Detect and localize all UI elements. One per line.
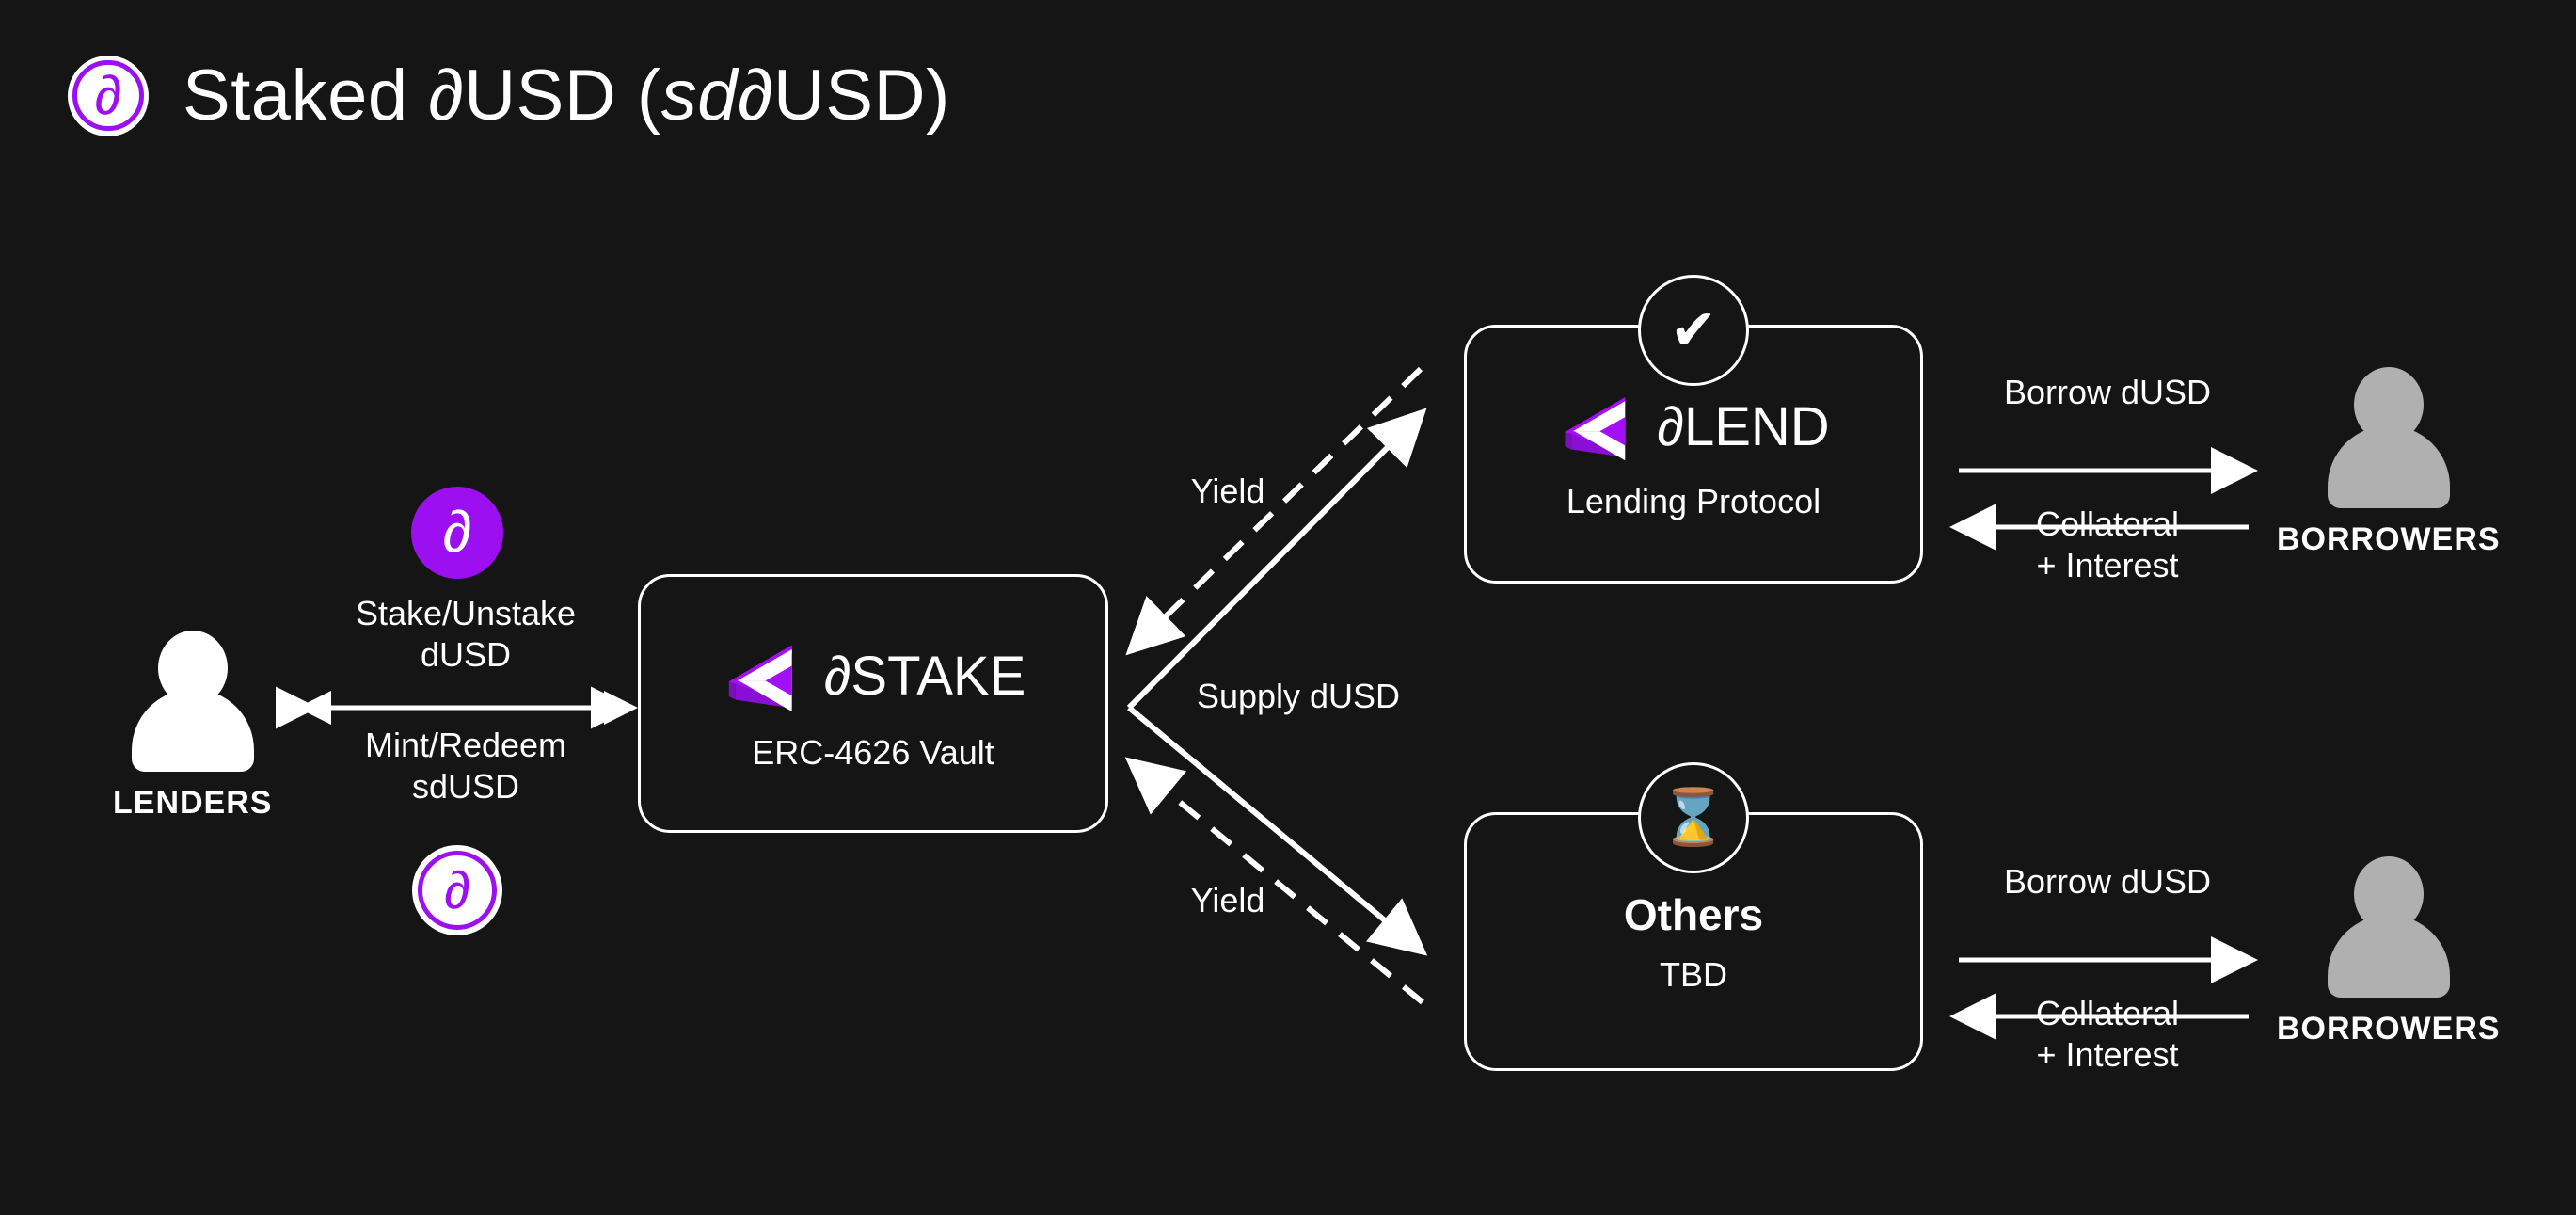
- hourglass-glyph: ⌛: [1660, 791, 1727, 845]
- dlend-brand-name: ∂LEND: [1657, 395, 1829, 458]
- others-box[interactable]: ⌛ Others TBD: [1464, 812, 1923, 1071]
- hourglass-badge-icon: ⌛: [1638, 762, 1749, 873]
- dlend-brand: ∂LEND: [1557, 388, 1829, 467]
- page-title: Staked ∂USD (sd∂USD): [183, 55, 950, 136]
- coin-glyph: ∂: [444, 864, 470, 917]
- person-icon: [2328, 367, 2450, 508]
- title-sd: sd: [661, 56, 738, 136]
- dlend-triangle-logo: [1557, 388, 1636, 467]
- diagram-canvas: ∂ Staked ∂USD (sd∂USD): [0, 0, 2576, 1215]
- title-mid: USD (: [464, 56, 660, 136]
- supply-label-upper: Supply dUSD: [1157, 676, 1439, 717]
- borrowers-label-lower: BORROWERS: [2277, 1011, 2501, 1047]
- collateral-interest-label-lower: Collateral + Interest: [1957, 993, 2258, 1076]
- stake-unstake-label: Stake/Unstake dUSD: [282, 593, 649, 676]
- dstake-brand-name: ∂STAKE: [824, 645, 1026, 708]
- borrowers-label-upper: BORROWERS: [2277, 521, 2501, 558]
- lenders-group: LENDERS: [113, 631, 272, 822]
- others-subtitle: TBD: [1660, 955, 1727, 995]
- dstake-vault-box[interactable]: ∂STAKE ERC-4626 Vault: [638, 574, 1108, 833]
- person-body: [2328, 915, 2450, 998]
- sdusd-token-icon: ∂: [412, 845, 502, 935]
- yield-label-lower: Yield: [1120, 880, 1336, 921]
- borrowers-group-lower: BORROWERS: [2277, 856, 2501, 1047]
- title-prefix: Staked: [183, 56, 428, 136]
- dstake-brand: ∂STAKE: [721, 635, 1026, 718]
- dlend-subtitle: Lending Protocol: [1566, 482, 1821, 521]
- collateral-interest-label-upper: Collateral + Interest: [1957, 504, 2258, 586]
- brand-partial-d: ∂: [824, 646, 851, 707]
- person-icon: [2328, 856, 2450, 998]
- coin-glyph: ∂: [443, 504, 472, 562]
- yield-label-upper: Yield: [1120, 471, 1336, 512]
- page-header: ∂ Staked ∂USD (sd∂USD): [68, 55, 950, 136]
- dusd-coin-icon: ∂: [68, 56, 149, 136]
- dusd-token-icon: ∂: [411, 487, 503, 579]
- mint-redeem-label: Mint/Redeem sdUSD: [282, 725, 649, 807]
- coin-glyph: ∂: [95, 69, 122, 123]
- brand-partial-d: ∂: [1657, 396, 1684, 457]
- others-title: Others: [1624, 889, 1763, 940]
- brand-rest: STAKE: [851, 646, 1026, 707]
- lenders-vault-arrow: [297, 691, 638, 725]
- dstake-subtitle: ERC-4626 Vault: [752, 733, 994, 773]
- title-partial-d-1: ∂: [428, 56, 464, 136]
- check-glyph: ✔: [1670, 302, 1717, 359]
- supply-fork-upper: [1129, 416, 1419, 708]
- person-icon: [132, 631, 254, 772]
- person-body: [132, 689, 254, 772]
- check-badge-icon: ✔: [1638, 275, 1749, 386]
- brand-rest: LEND: [1684, 396, 1830, 457]
- borrow-dusd-label-upper: Borrow dUSD: [1957, 372, 2258, 413]
- title-suffix: USD): [773, 56, 950, 136]
- person-body: [2328, 425, 2450, 508]
- dlend-box[interactable]: ✔ ∂LEND Lending Protocol: [1464, 325, 1923, 584]
- dstake-triangle-logo: [721, 635, 803, 718]
- title-partial-d-2: ∂: [738, 56, 773, 136]
- borrow-dusd-label-lower: Borrow dUSD: [1957, 861, 2258, 903]
- lenders-label: LENDERS: [113, 785, 272, 822]
- borrowers-group-upper: BORROWERS: [2277, 367, 2501, 558]
